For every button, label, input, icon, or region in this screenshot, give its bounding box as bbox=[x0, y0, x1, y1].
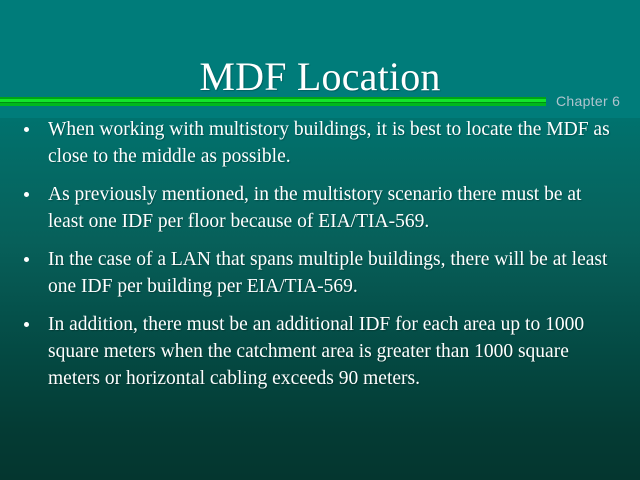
bullet-list: When working with multistory buildings, … bbox=[0, 116, 640, 403]
list-item: When working with multistory buildings, … bbox=[0, 116, 640, 170]
bullet-dot-icon bbox=[24, 257, 29, 262]
presentation-slide: MDF Location Chapter 6 When working with… bbox=[0, 0, 640, 480]
bullet-dot-icon bbox=[24, 127, 29, 132]
bullet-dot-icon bbox=[24, 192, 29, 197]
chapter-label: Chapter 6 bbox=[556, 93, 620, 109]
list-item-text: When working with multistory buildings, … bbox=[48, 116, 618, 170]
list-item: In the case of a LAN that spans multiple… bbox=[0, 246, 640, 300]
list-item: As previously mentioned, in the multisto… bbox=[0, 181, 640, 235]
list-item-text: In addition, there must be an additional… bbox=[48, 311, 618, 392]
list-item: In addition, there must be an additional… bbox=[0, 311, 640, 392]
slide-title: MDF Location bbox=[0, 55, 640, 99]
list-item-text: As previously mentioned, in the multisto… bbox=[48, 181, 618, 235]
divider-band-bottom bbox=[0, 103, 546, 106]
bullet-dot-icon bbox=[24, 322, 29, 327]
title-divider-rule bbox=[0, 97, 546, 106]
list-item-text: In the case of a LAN that spans multiple… bbox=[48, 246, 618, 300]
